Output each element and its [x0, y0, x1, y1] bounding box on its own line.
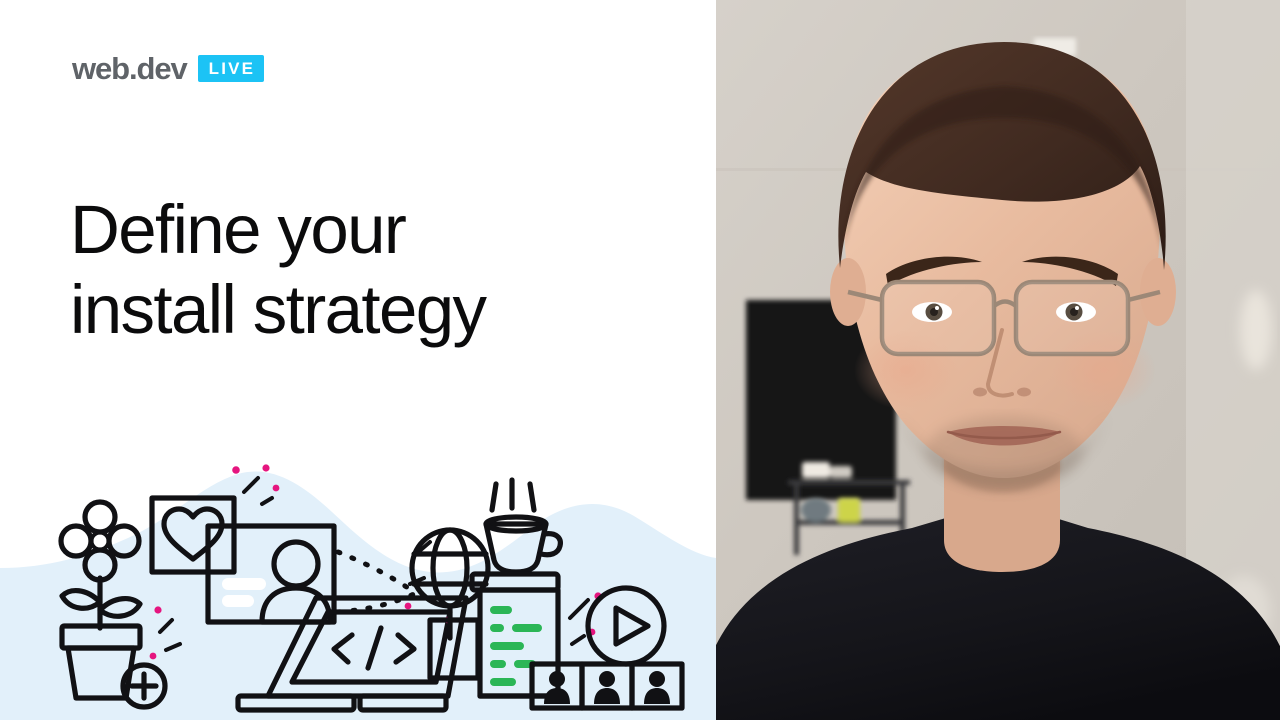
- web-dev-live-logo: web.dev LIVE: [72, 53, 264, 84]
- broadcast-layout: web.dev LIVE Define your install strateg…: [0, 0, 1280, 720]
- headline-line-1: Define your: [70, 191, 405, 268]
- speaker-webcam-feed: [716, 0, 1280, 720]
- slide-headline: Define your install strategy: [70, 190, 670, 350]
- headline-line-2: install strategy: [70, 270, 670, 350]
- slide-illustration: .ink{ stroke:#111114; stroke-width:5.2; …: [0, 460, 716, 720]
- presentation-slide: web.dev LIVE Define your install strateg…: [0, 0, 716, 720]
- logo-wordmark: web.dev: [72, 53, 187, 84]
- logo-live-badge: LIVE: [198, 55, 265, 82]
